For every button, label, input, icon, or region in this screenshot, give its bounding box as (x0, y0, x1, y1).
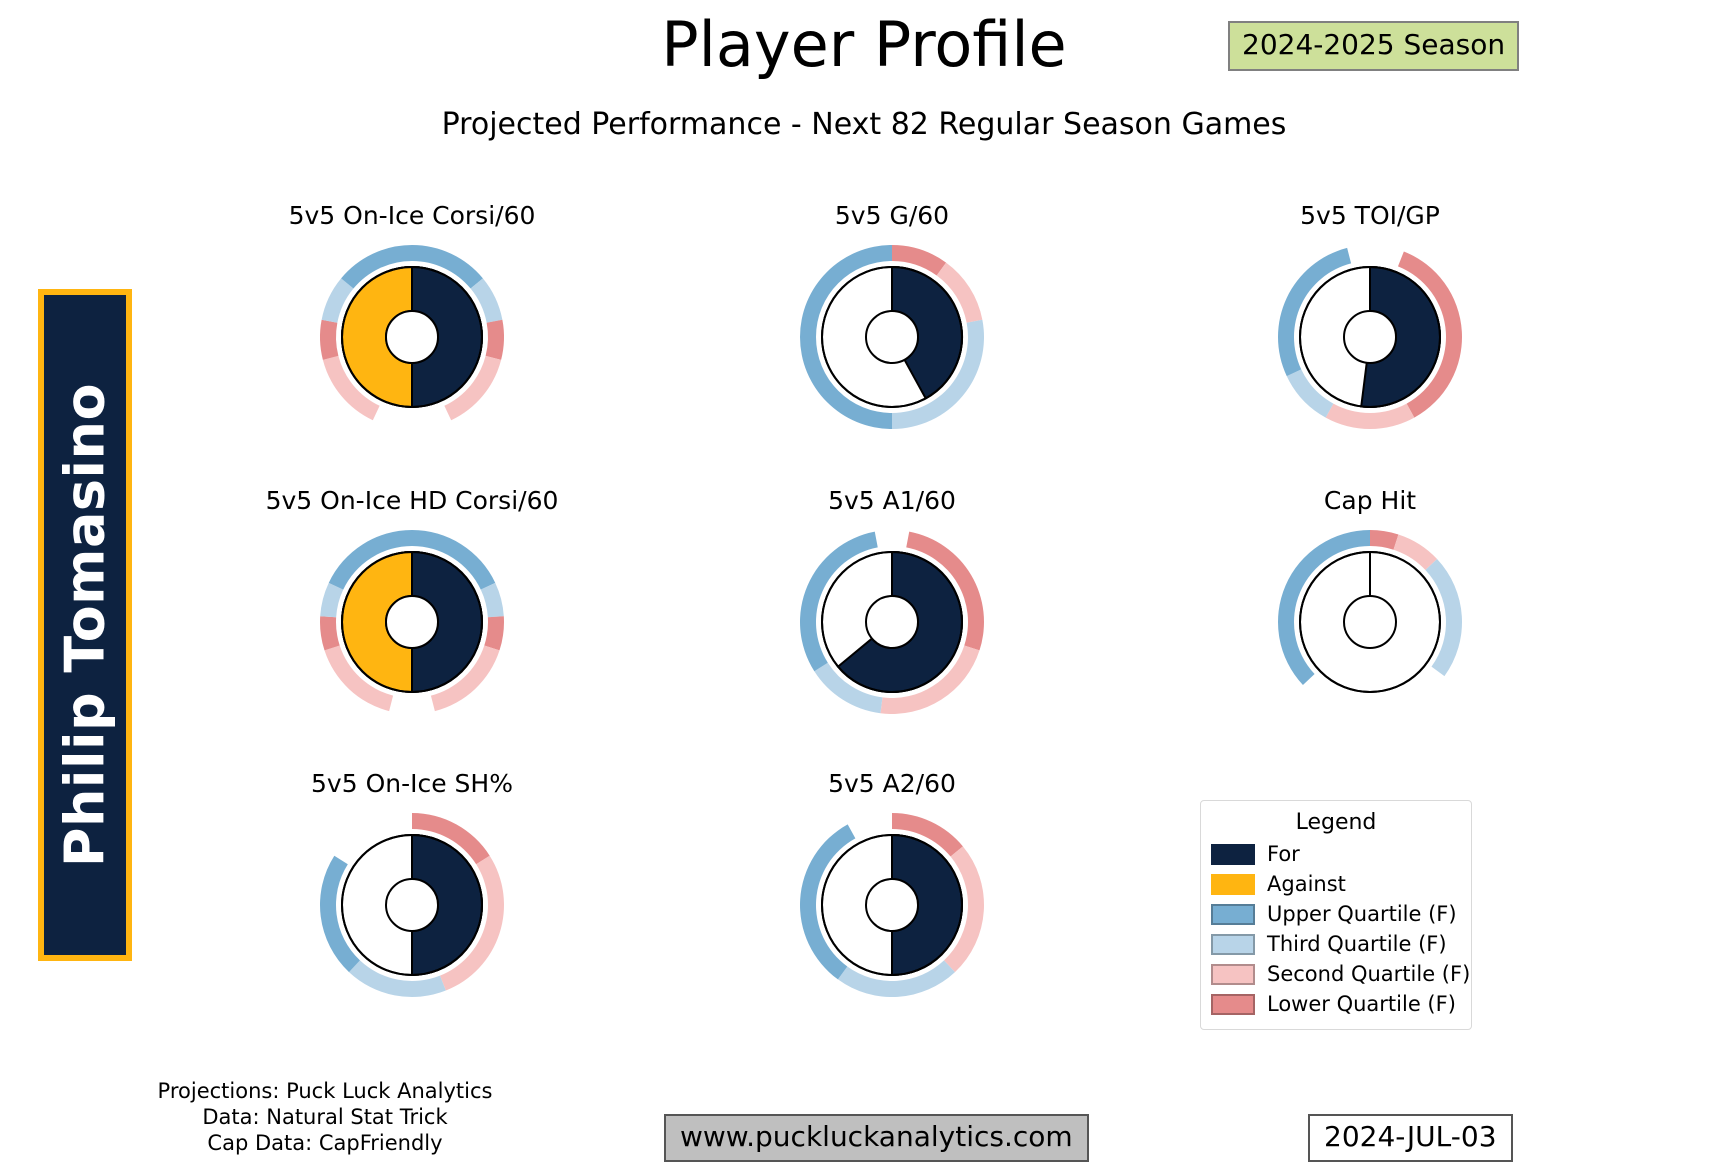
donut-hole (1344, 311, 1396, 363)
donut-hole (866, 596, 918, 648)
chart-title: 5v5 On-Ice HD Corsi/60 (232, 485, 592, 517)
legend-label: Third Quartile (F) (1267, 931, 1447, 957)
credits-projections: Projections: Puck Luck Analytics (100, 1078, 550, 1104)
donut-gauge-onicesh[interactable] (317, 810, 507, 1000)
chart-cell-corsi60: 5v5 On-Ice Corsi/60 (232, 200, 592, 450)
chart-cell-onicesh: 5v5 On-Ice SH% (232, 768, 592, 1018)
donut-gauge-a160[interactable] (797, 527, 987, 717)
legend-swatch (1211, 994, 1255, 1015)
legend-swatch (1211, 844, 1255, 865)
donut-hole (386, 596, 438, 648)
legend-swatch (1211, 874, 1255, 895)
player-name: Philip Tomasino (54, 383, 117, 867)
donut-hole (1344, 596, 1396, 648)
legend-item: Against (1211, 869, 1461, 899)
donut-gauge-corsi60[interactable] (317, 242, 507, 432)
legend-swatch (1211, 964, 1255, 985)
chart-cell-a160: 5v5 A1/60 (712, 485, 1072, 735)
donut-gauge-hdcorsi60[interactable] (317, 527, 507, 717)
donut-hole (386, 311, 438, 363)
legend-item: Lower Quartile (F) (1211, 989, 1461, 1019)
donut-gauge-caphit[interactable] (1275, 527, 1465, 717)
chart-cell-toigp: 5v5 TOI/GP (1190, 200, 1550, 450)
chart-title: 5v5 TOI/GP (1190, 200, 1550, 232)
donut-hole (386, 879, 438, 931)
credits-data: Data: Natural Stat Trick (100, 1104, 550, 1130)
chart-title: 5v5 A2/60 (712, 768, 1072, 800)
legend-items: ForAgainstUpper Quartile (F)Third Quarti… (1211, 839, 1461, 1019)
donut-gauge-g60[interactable] (797, 242, 987, 432)
legend: Legend ForAgainstUpper Quartile (F)Third… (1200, 800, 1472, 1030)
chart-title: 5v5 On-Ice Corsi/60 (232, 200, 592, 232)
legend-label: Second Quartile (F) (1267, 961, 1470, 987)
donut-gauge-toigp[interactable] (1275, 242, 1465, 432)
date-box: 2024-JUL-03 (1308, 1114, 1513, 1162)
chart-title: 5v5 G/60 (712, 200, 1072, 232)
donut-hole (866, 879, 918, 931)
legend-item: Third Quartile (F) (1211, 929, 1461, 959)
chart-title: 5v5 On-Ice SH% (232, 768, 592, 800)
chart-cell-hdcorsi60: 5v5 On-Ice HD Corsi/60 (232, 485, 592, 735)
quartile-band (320, 320, 338, 360)
quartile-band (484, 616, 504, 650)
chart-cell-a260: 5v5 A2/60 (712, 768, 1072, 1018)
credits-block: Projections: Puck Luck Analytics Data: N… (100, 1078, 550, 1156)
legend-item: Upper Quartile (F) (1211, 899, 1461, 929)
legend-title: Legend (1211, 809, 1461, 837)
page-subtitle: Projected Performance - Next 82 Regular … (0, 106, 1728, 144)
legend-label: For (1267, 841, 1300, 867)
legend-label: Upper Quartile (F) (1267, 901, 1457, 927)
chart-title: 5v5 A1/60 (712, 485, 1072, 517)
legend-swatch (1211, 934, 1255, 955)
credits-cap-data: Cap Data: CapFriendly (100, 1130, 550, 1156)
legend-label: Lower Quartile (F) (1267, 991, 1456, 1017)
chart-title: Cap Hit (1190, 485, 1550, 517)
donut-gauge-a260[interactable] (797, 810, 987, 1000)
quartile-band (1370, 530, 1398, 550)
legend-item: For (1211, 839, 1461, 869)
chart-cell-g60: 5v5 G/60 (712, 200, 1072, 450)
chart-cell-caphit: Cap Hit (1190, 485, 1550, 735)
season-badge: 2024-2025 Season (1228, 21, 1519, 71)
quartile-band (486, 320, 504, 360)
legend-swatch (1211, 904, 1255, 925)
legend-label: Against (1267, 871, 1346, 897)
quartile-band (320, 616, 340, 650)
website-box[interactable]: www.puckluckanalytics.com (664, 1114, 1089, 1162)
player-name-banner: Philip Tomasino (38, 289, 132, 961)
donut-hole (866, 311, 918, 363)
legend-item: Second Quartile (F) (1211, 959, 1461, 989)
